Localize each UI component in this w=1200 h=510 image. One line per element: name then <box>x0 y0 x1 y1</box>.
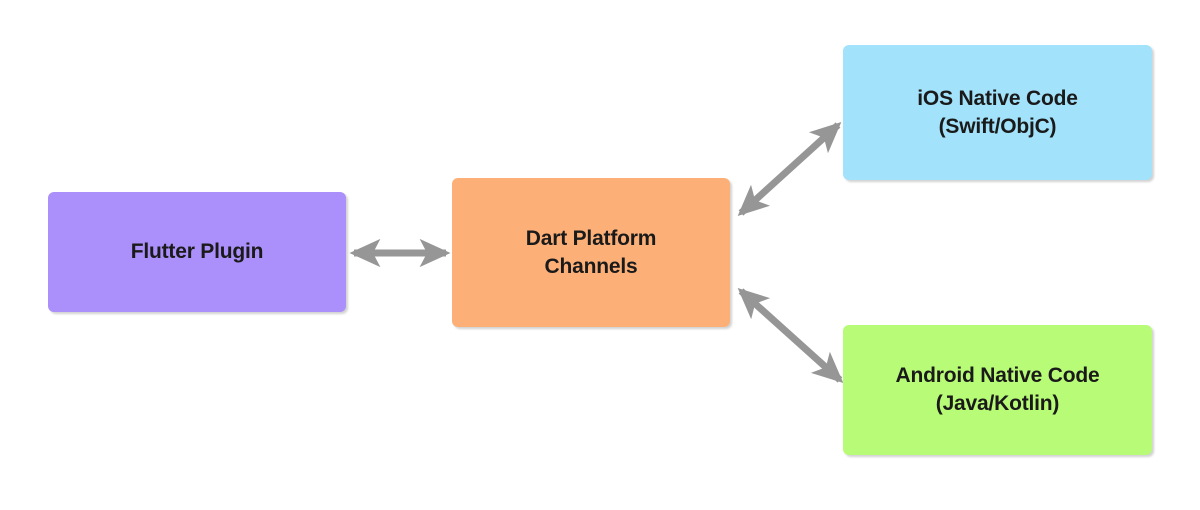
node-flutter-plugin-label: Flutter Plugin <box>131 238 264 266</box>
node-ios-native-code-label: iOS Native Code (Swift/ObjC) <box>917 85 1077 140</box>
diagram-canvas: Flutter Plugin Dart Platform Channels iO… <box>0 0 1200 510</box>
node-dart-platform-channels[interactable]: Dart Platform Channels <box>452 178 730 327</box>
node-flutter-plugin[interactable]: Flutter Plugin <box>48 192 346 312</box>
node-android-native-code[interactable]: Android Native Code (Java/Kotlin) <box>843 325 1152 455</box>
edge-channels-to-ios <box>741 125 838 213</box>
node-dart-platform-channels-label: Dart Platform Channels <box>526 225 656 280</box>
edge-channels-to-android <box>741 291 840 380</box>
node-ios-native-code[interactable]: iOS Native Code (Swift/ObjC) <box>843 45 1152 180</box>
node-android-native-code-label: Android Native Code (Java/Kotlin) <box>896 362 1100 417</box>
